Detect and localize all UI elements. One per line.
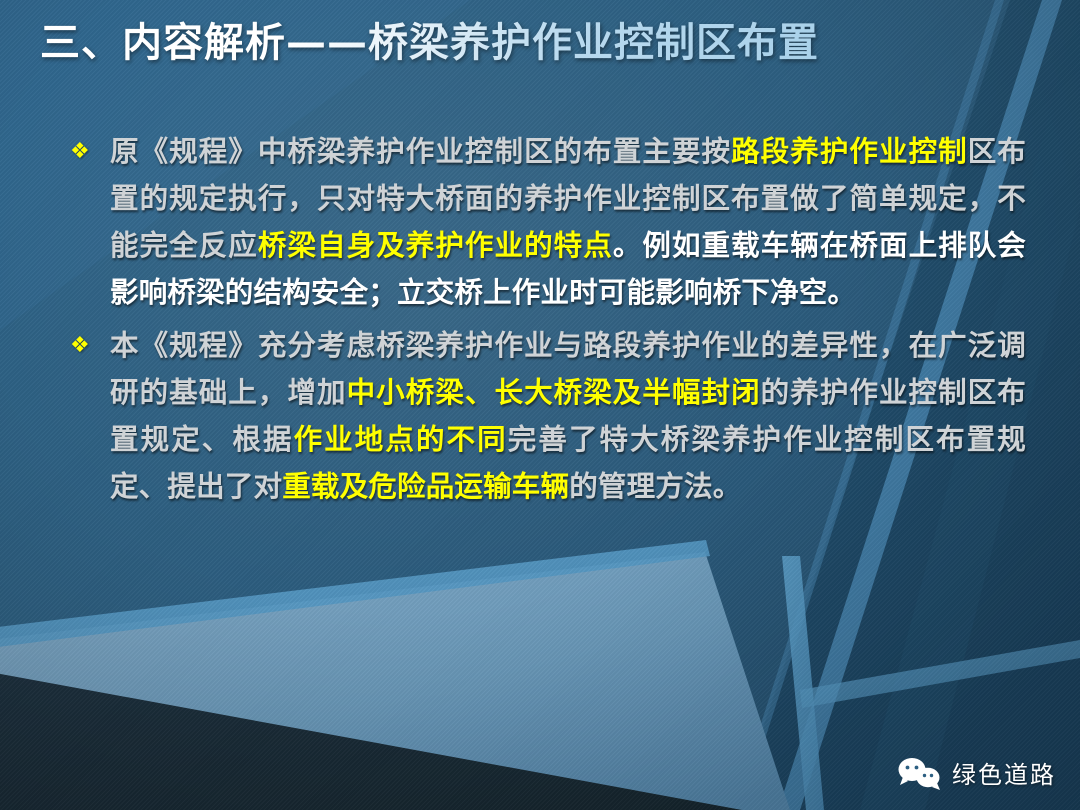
page-title: 三、内容解析——桥梁养护作业控制区布置 [40, 20, 819, 66]
content-body: ❖ 原《规程》中桥梁养护作业控制区的布置主要按路段养护作业控制区布置的规定执行，… [66, 128, 1026, 516]
list-item: ❖ 本《规程》充分考虑桥梁养护作业与路段养护作业的差异性，在广泛调研的基础上，增… [66, 322, 1026, 510]
text-run: 作业地点的不同 [294, 423, 508, 456]
text-run: 路段养护作业控制 [731, 135, 968, 168]
text-run: 原《规程》中桥梁养护作业控制区的布置主要按 [110, 135, 731, 168]
wechat-icon-glyph [896, 756, 942, 790]
list-item: ❖ 原《规程》中桥梁养护作业控制区的布置主要按路段养护作业控制区布置的规定执行，… [66, 128, 1026, 316]
bullet-diamond-icon: ❖ [66, 128, 110, 175]
bullet-paragraph-2: 本《规程》充分考虑桥梁养护作业与路段养护作业的差异性，在广泛调研的基础上，增加中… [110, 322, 1026, 510]
watermark-label: 绿色道路 [952, 755, 1056, 790]
bullet-diamond-icon: ❖ [66, 322, 110, 369]
slide-canvas: 三、内容解析——桥梁养护作业控制区布置 ❖ 原《规程》中桥梁养护作业控制区的布置… [0, 0, 1080, 810]
wechat-icon [896, 756, 942, 790]
text-run: 重载及危险品运输车辆 [282, 470, 569, 503]
watermark: 绿色道路 [896, 755, 1056, 790]
text-run: 桥梁自身及养护作业的特点 [258, 229, 613, 262]
text-run: 的管理方法。 [569, 470, 741, 503]
text-run: 中小桥梁、长大桥梁及半幅封闭 [347, 376, 761, 409]
bullet-paragraph-1: 原《规程》中桥梁养护作业控制区的布置主要按路段养护作业控制区布置的规定执行，只对… [110, 128, 1026, 316]
